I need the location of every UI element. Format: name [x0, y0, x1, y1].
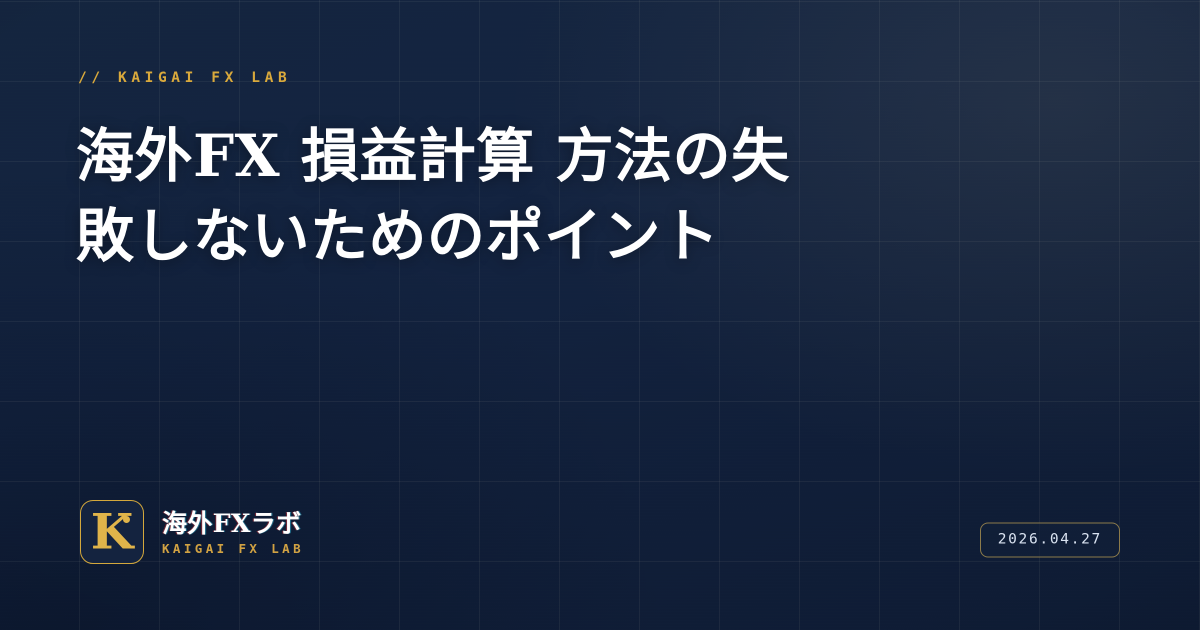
card-footer: K 海外FXラボ KAIGAI FX LAB 2026.04.27 — [0, 480, 1200, 630]
brand-lockup: K 海外FXラボ KAIGAI FX LAB — [80, 500, 304, 564]
page-title: 海外FX 損益計算 方法の失 敗しないためのポイント — [76, 116, 886, 276]
brand-subtitle: KAIGAI FX LAB — [162, 541, 304, 556]
page-title-line-2: 敗しないためのポイント — [76, 196, 886, 276]
logo-k-icon: K — [81, 508, 143, 557]
brand-name: 海外FXラボ — [162, 509, 304, 538]
page-title-line-1: 海外FX 損益計算 方法の失 — [76, 116, 886, 196]
eyebrow-label: // KAIGAI FX LAB — [78, 70, 291, 86]
logo-dot-icon — [123, 516, 130, 523]
brand-text-block: 海外FXラボ KAIGAI FX LAB — [162, 509, 304, 556]
logo-badge: K — [80, 500, 144, 564]
date-badge: 2026.04.27 — [980, 523, 1120, 558]
og-card: // KAIGAI FX LAB 海外FX 損益計算 方法の失 敗しないためのポ… — [0, 0, 1200, 630]
